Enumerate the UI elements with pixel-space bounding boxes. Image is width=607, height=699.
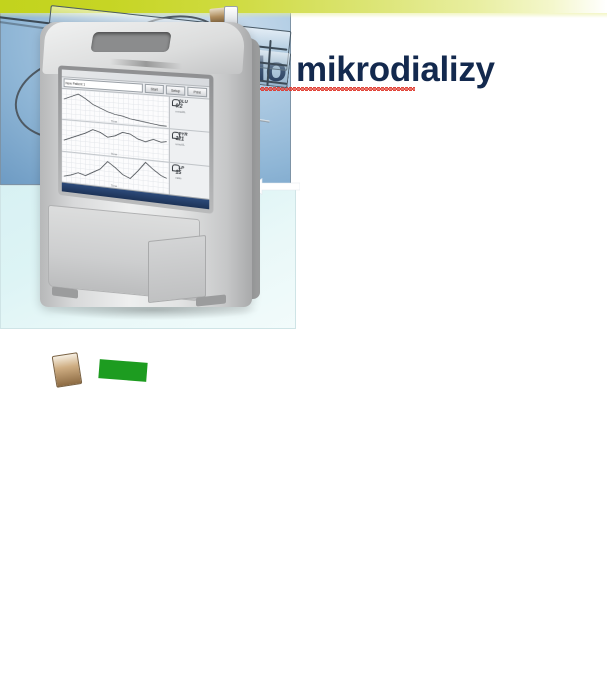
- device-screen[interactable]: New Patient 1 Start Setup Print Time: [62, 69, 209, 209]
- device-carry-handle: [90, 32, 171, 52]
- trend-plot-column: Time Time Time: [62, 89, 169, 194]
- flask-icon: [171, 98, 179, 106]
- readout-pyr[interactable]: PYR 121 umol/L: [170, 130, 209, 167]
- readout-lp[interactable]: LP 15 ratio: [170, 162, 209, 198]
- membrane-highlight-marker: [98, 359, 147, 382]
- flask-icon: [171, 164, 179, 172]
- microdialysis-analyzer-photo: New Patient 1 Start Setup Print Time: [0, 329, 300, 699]
- start-button[interactable]: Start: [145, 84, 164, 94]
- readout-glu[interactable]: GLU 0.2 mmol/L: [170, 97, 209, 133]
- readout-panel: GLU 0.2 mmol/L PYR 121 umol/L LP 15: [169, 97, 209, 199]
- print-button[interactable]: Print: [187, 87, 207, 98]
- device-screen-bezel: New Patient 1 Start Setup Print Time: [58, 65, 213, 214]
- screen-main-area: Time Time Time: [62, 89, 209, 199]
- flask-icon: [171, 131, 179, 139]
- setup-button[interactable]: Setup: [166, 85, 185, 96]
- probe-metal-ferrule: [52, 352, 83, 388]
- device-reagent-cassette-bay[interactable]: [148, 235, 206, 303]
